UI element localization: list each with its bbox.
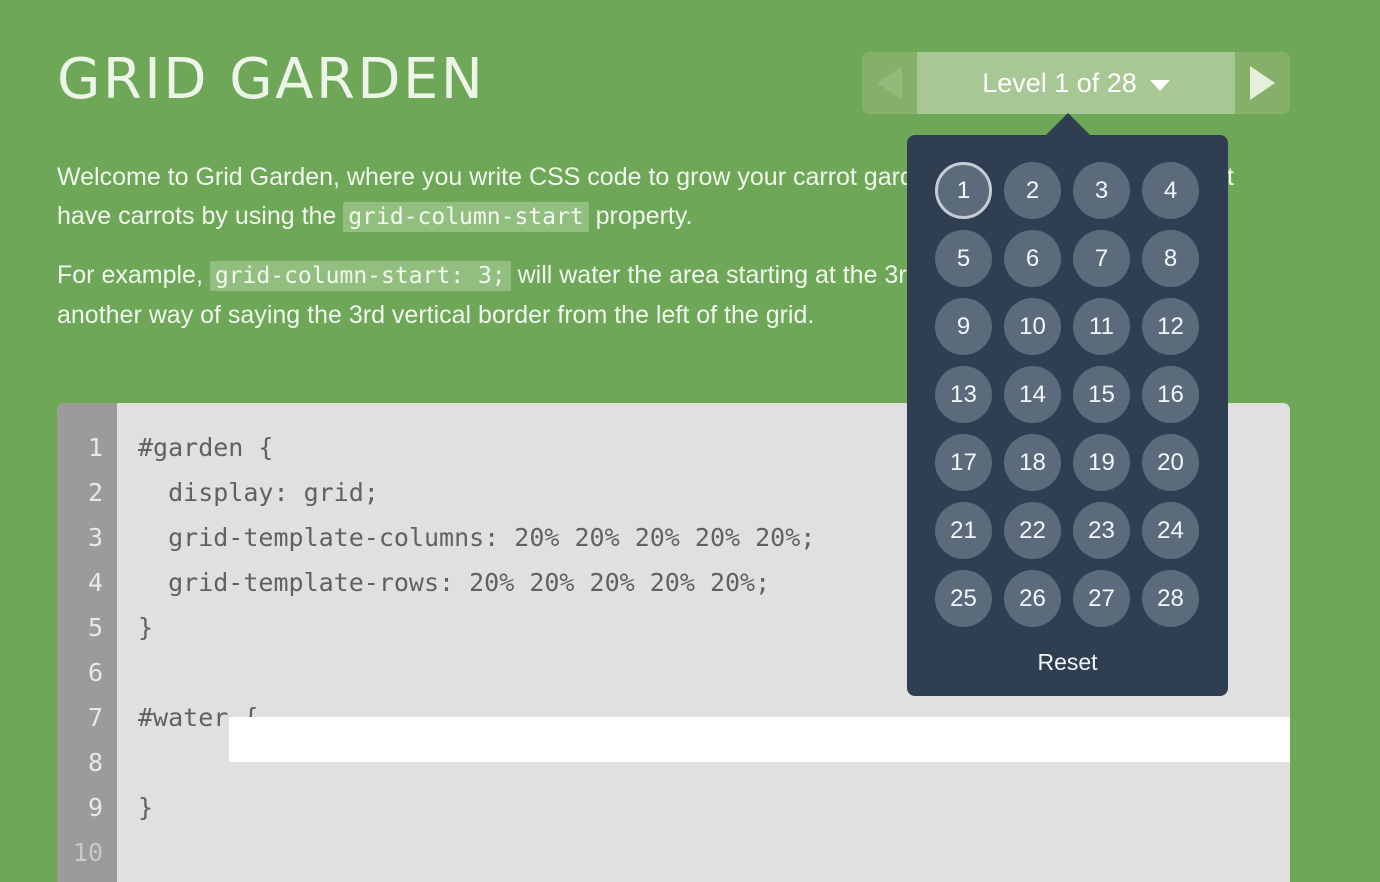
level-dot-21[interactable]: 21	[935, 502, 992, 559]
level-dot-23[interactable]: 23	[1073, 502, 1130, 559]
page-title: GRID GARDEN	[57, 52, 485, 108]
instruction-text-1b: property.	[589, 202, 693, 230]
level-dot-28[interactable]: 28	[1142, 570, 1199, 627]
level-dot-14[interactable]: 14	[1004, 366, 1061, 423]
level-dot-19[interactable]: 19	[1073, 434, 1130, 491]
level-dot-12[interactable]: 12	[1142, 298, 1199, 355]
level-dot-10[interactable]: 10	[1004, 298, 1061, 355]
level-selector: Level 1 of 28	[862, 52, 1290, 114]
level-dot-9[interactable]: 9	[935, 298, 992, 355]
line-number: 8	[57, 740, 117, 785]
chevron-down-icon	[1150, 80, 1170, 91]
code-line: }	[117, 785, 1290, 830]
line-number: 5	[57, 605, 117, 650]
line-number: 7	[57, 695, 117, 740]
level-dot-5[interactable]: 5	[935, 230, 992, 287]
reset-button[interactable]: Reset	[935, 649, 1200, 676]
level-dot-13[interactable]: 13	[935, 366, 992, 423]
line-number: 10	[57, 830, 117, 875]
level-dot-16[interactable]: 16	[1142, 366, 1199, 423]
inline-code-grid-column-start: grid-column-start	[343, 202, 588, 232]
line-number: 9	[57, 785, 117, 830]
level-dot-27[interactable]: 27	[1073, 570, 1130, 627]
level-dot-25[interactable]: 25	[935, 570, 992, 627]
level-dot-17[interactable]: 17	[935, 434, 992, 491]
triangle-left-icon	[877, 66, 902, 100]
level-dot-4[interactable]: 4	[1142, 162, 1199, 219]
dropdown-pointer	[1044, 113, 1092, 137]
line-number: 3	[57, 515, 117, 560]
line-number: 2	[57, 470, 117, 515]
previous-level-button[interactable]	[862, 52, 917, 114]
level-dot-24[interactable]: 24	[1142, 502, 1199, 559]
level-label: Level 1 of 28	[982, 68, 1137, 99]
level-dot-20[interactable]: 20	[1142, 434, 1199, 491]
level-grid: 1234567891011121314151617181920212223242…	[935, 162, 1200, 627]
line-number: 1	[57, 425, 117, 470]
next-level-button[interactable]	[1235, 52, 1290, 114]
line-number: 4	[57, 560, 117, 605]
code-line	[117, 830, 1290, 875]
inline-code-grid-column-start-3: grid-column-start: 3;	[210, 261, 511, 291]
level-dot-15[interactable]: 15	[1073, 366, 1130, 423]
level-dot-18[interactable]: 18	[1004, 434, 1061, 491]
level-dot-3[interactable]: 3	[1073, 162, 1130, 219]
level-dot-8[interactable]: 8	[1142, 230, 1199, 287]
level-display-toggle[interactable]: Level 1 of 28	[917, 52, 1235, 114]
level-dot-1[interactable]: 1	[935, 162, 992, 219]
instruction-text-2a: For example,	[57, 261, 210, 289]
triangle-right-icon	[1250, 66, 1275, 100]
level-dot-2[interactable]: 2	[1004, 162, 1061, 219]
level-dropdown: 1234567891011121314151617181920212223242…	[907, 135, 1228, 696]
line-number-gutter: 12345678910	[57, 403, 117, 882]
level-dot-6[interactable]: 6	[1004, 230, 1061, 287]
line-number: 6	[57, 650, 117, 695]
level-dot-11[interactable]: 11	[1073, 298, 1130, 355]
css-answer-input[interactable]	[229, 717, 1290, 762]
level-dot-26[interactable]: 26	[1004, 570, 1061, 627]
level-dot-7[interactable]: 7	[1073, 230, 1130, 287]
level-dot-22[interactable]: 22	[1004, 502, 1061, 559]
